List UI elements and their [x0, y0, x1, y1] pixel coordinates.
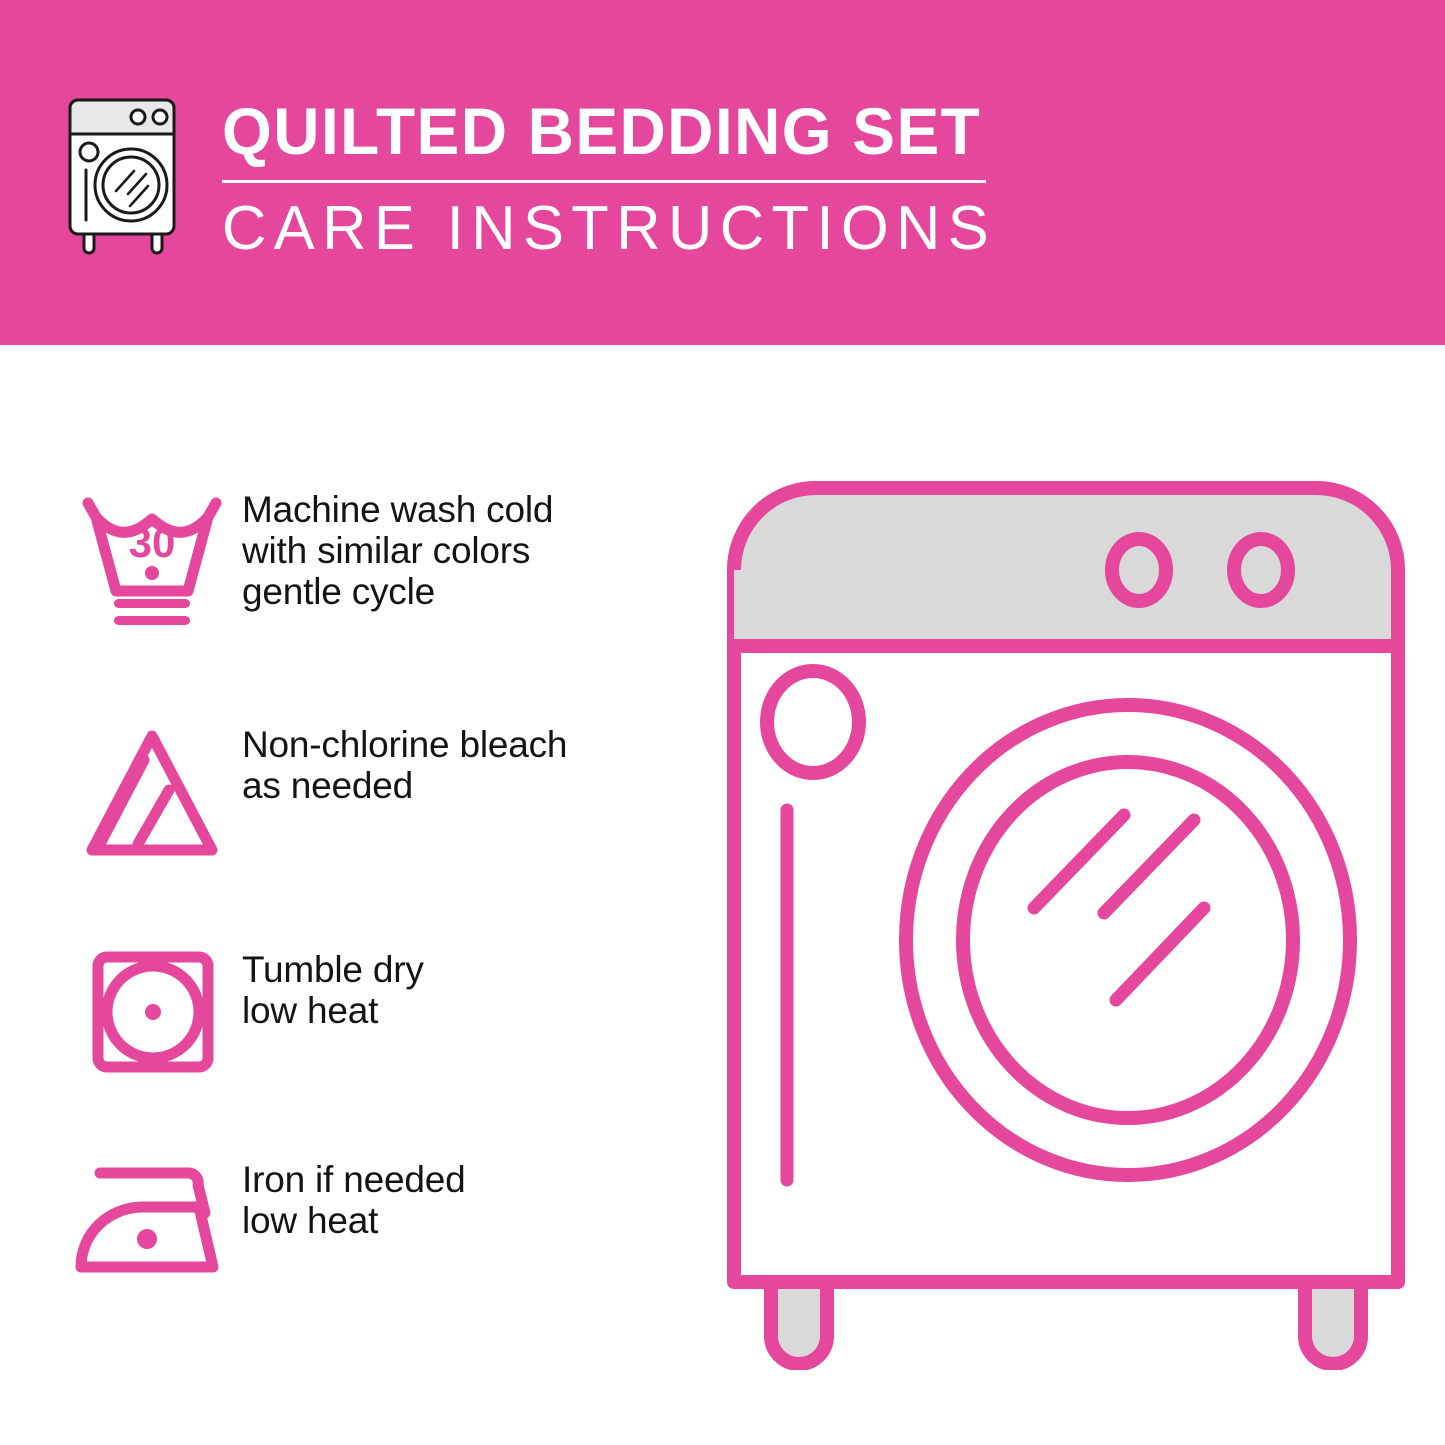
care-instructions-list: 30 Machine wash cold with similar colors…: [0, 345, 700, 1445]
care-instruction-row: Tumble dry low heat: [62, 945, 682, 1095]
non-chlorine-bleach-triangle-icon: [62, 720, 242, 870]
page-title: QUILTED BEDDING SET: [222, 96, 981, 166]
care-instruction-label: Tumble dry low heat: [242, 945, 424, 1031]
header-text-block: QUILTED BEDDING SET CARE INSTRUCTIONS: [222, 96, 1005, 262]
washing-machine-icon: [62, 96, 190, 256]
care-instruction-row: Iron if needed low heat: [62, 1155, 682, 1295]
header-banner: QUILTED BEDDING SET CARE INSTRUCTIONS: [0, 0, 1445, 345]
iron-low-heat-icon: [62, 1155, 242, 1295]
care-instruction-label: Machine wash cold with similar colors ge…: [242, 485, 553, 612]
care-instruction-label: Non-chlorine bleach as needed: [242, 720, 567, 806]
wash-temperature-label: 30: [129, 519, 176, 566]
care-instruction-label: Iron if needed low heat: [242, 1155, 465, 1241]
tumble-dry-low-icon: [62, 945, 242, 1095]
wash-tub-30-icon: 30: [62, 485, 242, 635]
page-subtitle: CARE INSTRUCTIONS: [222, 196, 997, 262]
header-content: QUILTED BEDDING SET CARE INSTRUCTIONS: [62, 96, 1005, 262]
care-instruction-row: 30 Machine wash cold with similar colors…: [62, 485, 682, 635]
front-load-washing-machine-illustration: [716, 470, 1416, 1370]
care-instruction-row: Non-chlorine bleach as needed: [62, 720, 682, 870]
title-divider: [222, 180, 986, 183]
